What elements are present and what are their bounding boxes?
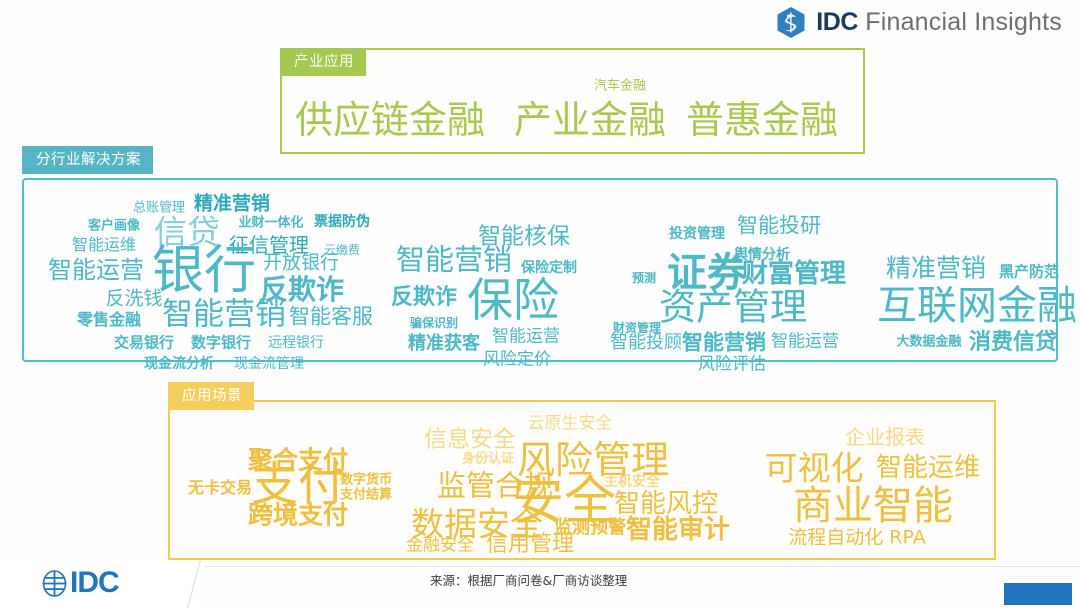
wordcloud-term: 产业金融 bbox=[514, 101, 666, 139]
wordcloud-term: 商业智能 bbox=[793, 486, 953, 526]
section-tab-industry-solutions: 分行业解决方案 bbox=[22, 146, 153, 174]
wordcloud-term: 客户画像 bbox=[88, 220, 140, 233]
wordcloud-term: 远程银行 bbox=[268, 336, 324, 350]
wordcloud-term: 精准营销 bbox=[194, 195, 270, 214]
wordcloud-term: 无卡交易 bbox=[188, 480, 252, 496]
wordcloud-term: 智能审计 bbox=[626, 517, 730, 543]
source-note: 来源：根据厂商问卷&厂商访谈整理 bbox=[430, 570, 627, 589]
idc-hexagon-logo-icon bbox=[776, 6, 806, 39]
wordcloud-term: 风险定价 bbox=[483, 352, 551, 369]
wordcloud-term: 数字银行 bbox=[191, 336, 251, 351]
footer-accent-block bbox=[1004, 583, 1072, 605]
wordcloud-term: 智能营销 bbox=[396, 246, 512, 275]
wordcloud-term: 智能运营 bbox=[771, 334, 839, 351]
wordcloud-term: 流程自动化 RPA bbox=[788, 529, 925, 548]
wordcloud-term: 企业报表 bbox=[845, 427, 925, 447]
brand-wordmark: IDC Financial Insights bbox=[816, 10, 1062, 35]
wordcloud-term: 精准获客 bbox=[408, 335, 480, 353]
wordcloud-term: 反欺诈 bbox=[391, 287, 457, 309]
wordcloud-term: 智能营销 bbox=[162, 300, 286, 331]
wordcloud-term: 身份认证 bbox=[462, 453, 514, 466]
wordcloud-term: 汽车金融 bbox=[594, 80, 646, 93]
wordcloud-term: 预测 bbox=[632, 272, 656, 284]
wordcloud-term: 大数据金融 bbox=[896, 336, 961, 349]
wordcloud-term: 骗保识别 bbox=[410, 317, 458, 329]
wordcloud-term: 资产管理 bbox=[659, 289, 807, 326]
wordcloud-term: 互联网金融 bbox=[877, 286, 1077, 326]
wordcloud-term: 智能运维 bbox=[876, 455, 980, 481]
wordcloud-term: 智能运营 bbox=[492, 329, 560, 346]
slide-canvas: IDC Financial Insights 汽车金融供应链金融产业金融普惠金融… bbox=[0, 0, 1080, 608]
section-tab-industry-application: 产业应用 bbox=[280, 48, 366, 76]
wordcloud-term: 交易银行 bbox=[114, 336, 174, 351]
idc-financial-insights-logo: IDC Financial Insights bbox=[776, 6, 1062, 39]
wordcloud-term: 智能投顾 bbox=[610, 334, 682, 352]
footer-brand-idc: IDC bbox=[70, 568, 119, 598]
wordcloud-term: 现金流分析 bbox=[144, 357, 214, 371]
wordcloud-term: 开放银行 bbox=[263, 254, 339, 273]
section-tab-application-scenarios: 应用场景 bbox=[168, 382, 254, 410]
footer-idc-logo: IDC bbox=[42, 568, 119, 598]
wordcloud-term: 反洗钱 bbox=[105, 290, 162, 309]
wordcloud-term: 财富管理 bbox=[742, 261, 846, 287]
wordcloud-term: 信息安全 bbox=[424, 429, 516, 452]
wordcloud-term: 云原生安全 bbox=[528, 416, 613, 433]
wordcloud-industry-solutions: 总账管理精准营销客户画像信贷业财一体化票据防伪智能运维征信管理云缴费智能运营银行… bbox=[24, 180, 1056, 360]
wordcloud-term: 信用管理 bbox=[486, 534, 574, 556]
wordcloud-term: 业财一体化 bbox=[238, 217, 303, 230]
wordcloud-term: 智能营销 bbox=[682, 333, 766, 354]
brand-financial-insights: Financial Insights bbox=[858, 8, 1062, 36]
wordcloud-term: 智能风控 bbox=[614, 491, 718, 517]
brand-idc: IDC bbox=[816, 8, 858, 36]
wordcloud-term: 智能客服 bbox=[289, 307, 373, 328]
wordcloud-term: 银行 bbox=[152, 245, 256, 297]
wordcloud-application-scenarios: 云原生安全信息安全企业报表身份认证风险管理聚合支付可视化智能运维支付无卡交易数字… bbox=[170, 402, 994, 558]
wordcloud-term: 零售金融 bbox=[77, 312, 141, 328]
section-application-scenarios: 云原生安全信息安全企业报表身份认证风险管理聚合支付可视化智能运维支付无卡交易数字… bbox=[168, 400, 996, 560]
wordcloud-term: 普惠金融 bbox=[686, 101, 838, 139]
wordcloud-term: 黑产防范 bbox=[999, 265, 1059, 280]
wordcloud-term: 现金流管理 bbox=[234, 357, 304, 371]
wordcloud-industry-application: 汽车金融供应链金融产业金融普惠金融 bbox=[282, 50, 863, 152]
wordcloud-term: 数字货币 bbox=[340, 474, 392, 487]
wordcloud-term: 智能运维 bbox=[72, 237, 136, 253]
wordcloud-term: 风险评估 bbox=[698, 357, 766, 374]
wordcloud-term: 可视化 bbox=[765, 452, 864, 485]
wordcloud-term: 跨境支付 bbox=[248, 503, 348, 528]
wordcloud-term: 智能运营 bbox=[48, 258, 144, 282]
wordcloud-term: 供应链金融 bbox=[295, 101, 485, 139]
wordcloud-term: 智能投研 bbox=[737, 216, 821, 237]
wordcloud-term: 保险 bbox=[467, 277, 559, 323]
section-industry-application: 汽车金融供应链金融产业金融普惠金融 bbox=[280, 48, 865, 154]
section-industry-solutions: 总账管理精准营销客户画像信贷业财一体化票据防伪智能运维征信管理云缴费智能运营银行… bbox=[22, 178, 1058, 362]
wordcloud-term: 金融安全 bbox=[406, 538, 474, 555]
wordcloud-term: 票据防伪 bbox=[314, 215, 370, 229]
wordcloud-term: 精准营销 bbox=[886, 256, 986, 281]
idc-globe-logo-icon bbox=[42, 570, 67, 597]
wordcloud-term: 投资管理 bbox=[669, 227, 725, 241]
wordcloud-term: 消费信贷 bbox=[969, 332, 1057, 354]
